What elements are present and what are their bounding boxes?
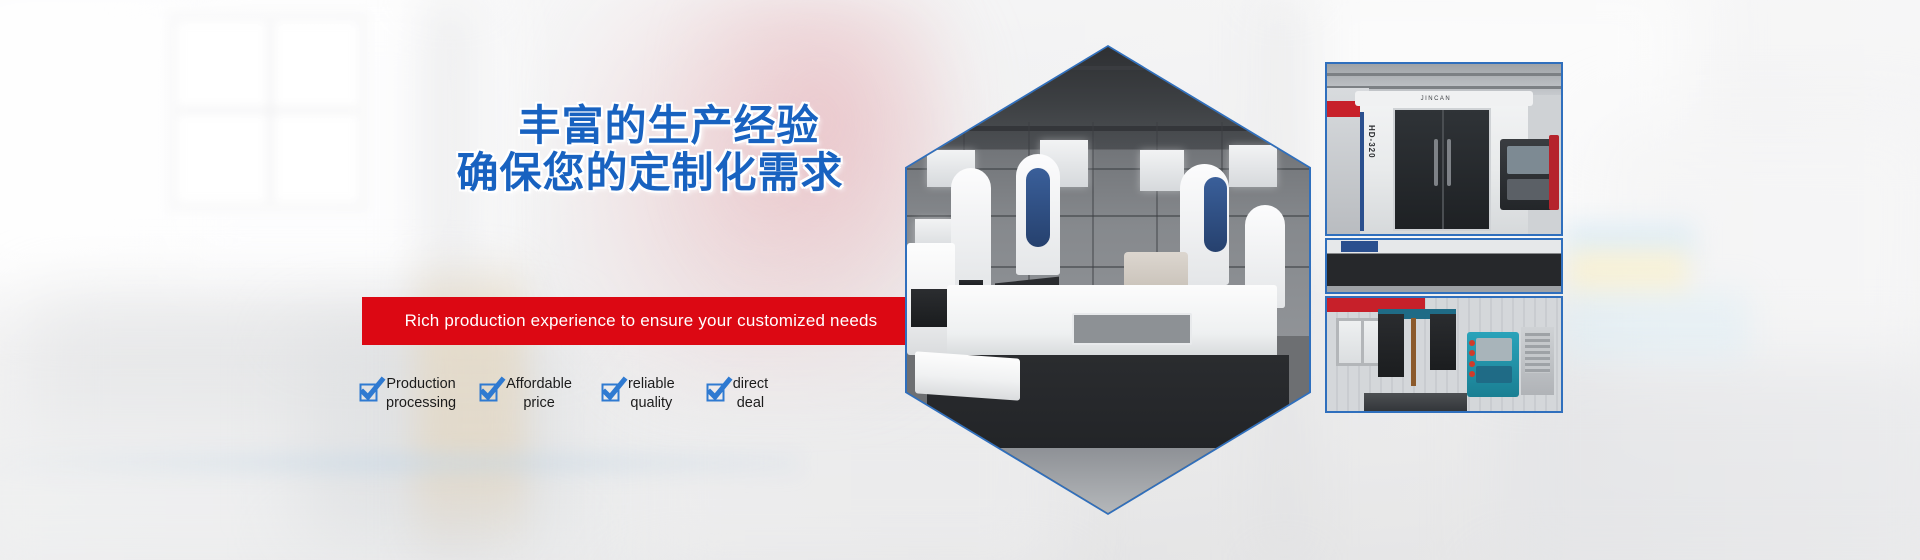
hexagon-photo-clip [907,47,1309,513]
feature-item-affordable-price[interactable]: Affordableprice [480,375,572,413]
checkbox-checked-icon [602,383,620,401]
panel-red-trim [1549,135,1558,210]
cnc-double-head-milling-machine-photo [905,45,1311,515]
headline: 丰富的生产经验 确保您的定制化需求 [300,104,1000,198]
checkbox-checked-icon [360,383,378,401]
factory-window [1229,145,1277,187]
headline-line-1: 丰富的生产经验 [300,104,1000,151]
machine-brand-label: JINCAN [1421,96,1452,102]
control-screen [1507,146,1550,175]
feature-list: Productionprocessing Affordableprice rel… [360,375,768,413]
door-handle [1447,139,1451,186]
control-button [1469,350,1475,356]
machine-control-panel [1467,332,1518,398]
roof-beam [979,89,1236,92]
machine-spindle [1411,318,1416,386]
checkbox-checked-icon [707,383,725,401]
subtitle-banner: Rich production experience to ensure you… [362,297,920,345]
machine-gantry-left [1378,314,1404,377]
hd-320-machine-base-strip [1325,238,1563,294]
roof-truss [931,126,1285,131]
feature-label: directdeal [733,375,768,413]
machine-aux-dark [911,289,947,326]
feature-label: Affordableprice [506,375,572,413]
hd-320-machining-center-photo: HD-320 JINCAN [1325,62,1563,236]
door-handle [1434,139,1438,186]
feature-item-reliable-quality[interactable]: reliablequality [602,375,675,413]
loading-table [915,351,1020,400]
roof-beam [947,66,1269,70]
machine-gantry-right [1430,314,1456,371]
control-screen [1476,338,1512,360]
machine-view-window [1072,313,1193,346]
control-button [1469,371,1475,377]
feature-item-production-processing[interactable]: Productionprocessing [360,375,456,413]
headline-line-2: 确保您的定制化需求 [300,151,1000,198]
machine-column [951,168,991,289]
machine-foot [1180,482,1192,494]
ceiling-beam [1327,73,1561,76]
feature-item-direct-deal[interactable]: directdeal [707,375,768,413]
machine-blue-panel [1204,177,1226,252]
factory-window [1140,150,1184,192]
machine-blue-stripe [1360,112,1365,231]
control-button [1469,340,1475,346]
machine-doors [1393,108,1491,230]
factory-floor [907,448,1309,513]
factory-roof [907,47,1309,150]
subtitle-text: Rich production experience to ensure you… [405,311,878,331]
machine-blue-panel [1026,168,1050,247]
checkbox-checked-icon [480,383,498,401]
machine-blue-accent [1341,241,1378,252]
machine-foot [995,482,1007,494]
electrical-cabinet [1521,327,1554,395]
banner-stage: 丰富的生产经验 确保您的定制化需求 Rich production experi… [0,0,1920,560]
control-keypad [1507,179,1550,200]
machine-worktable [1364,393,1467,411]
machine-control-panel [1500,139,1556,210]
control-button [1469,361,1475,367]
factory-scene [907,47,1309,513]
machine-model-label: HD-320 [1367,125,1376,159]
feature-label: Productionprocessing [386,375,456,413]
control-keypad [1476,366,1512,383]
feature-label: reliablequality [628,375,675,413]
cnc-drilling-machine-photo [1325,296,1563,413]
